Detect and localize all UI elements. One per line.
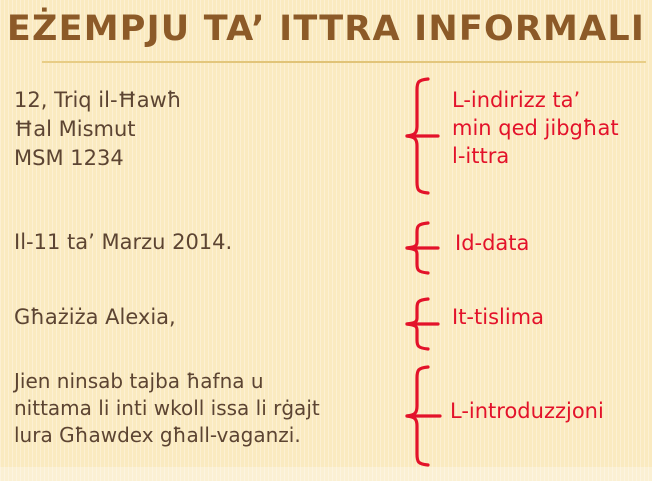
page-title: EŻEMPJU TA’ ITTRA INFORMALI bbox=[0, 7, 652, 51]
letter-address-block: 12, Triq il-Ħawħ Ħal Mismut MSM 1234 bbox=[14, 86, 181, 173]
annotation-introduction-label: L-introduzzjoni bbox=[450, 397, 604, 425]
slide-canvas: EŻEMPJU TA’ ITTRA INFORMALI 12, Triq il-… bbox=[0, 0, 652, 481]
annotation-date-label: Id-data bbox=[455, 229, 529, 257]
letter-date-line: Il-11 ta’ Marzu 2014. bbox=[14, 228, 232, 257]
curly-brace-date-icon bbox=[404, 220, 444, 276]
curly-brace-introduction-icon bbox=[402, 364, 446, 468]
annotation-greeting-label: It-tislima bbox=[452, 303, 544, 331]
letter-greeting-line: Għażiża Alexia, bbox=[14, 303, 176, 332]
annotation-address-label: L-indirizz ta’ min qed jibgħat l-ittra bbox=[452, 86, 619, 170]
curly-brace-greeting-icon bbox=[404, 296, 444, 352]
bottom-band-decoration bbox=[0, 467, 652, 481]
title-divider bbox=[42, 61, 646, 63]
curly-brace-address-icon bbox=[404, 76, 444, 196]
letter-introduction-paragraph: Jien ninsab tajba ħafna u nittama li int… bbox=[14, 368, 320, 449]
